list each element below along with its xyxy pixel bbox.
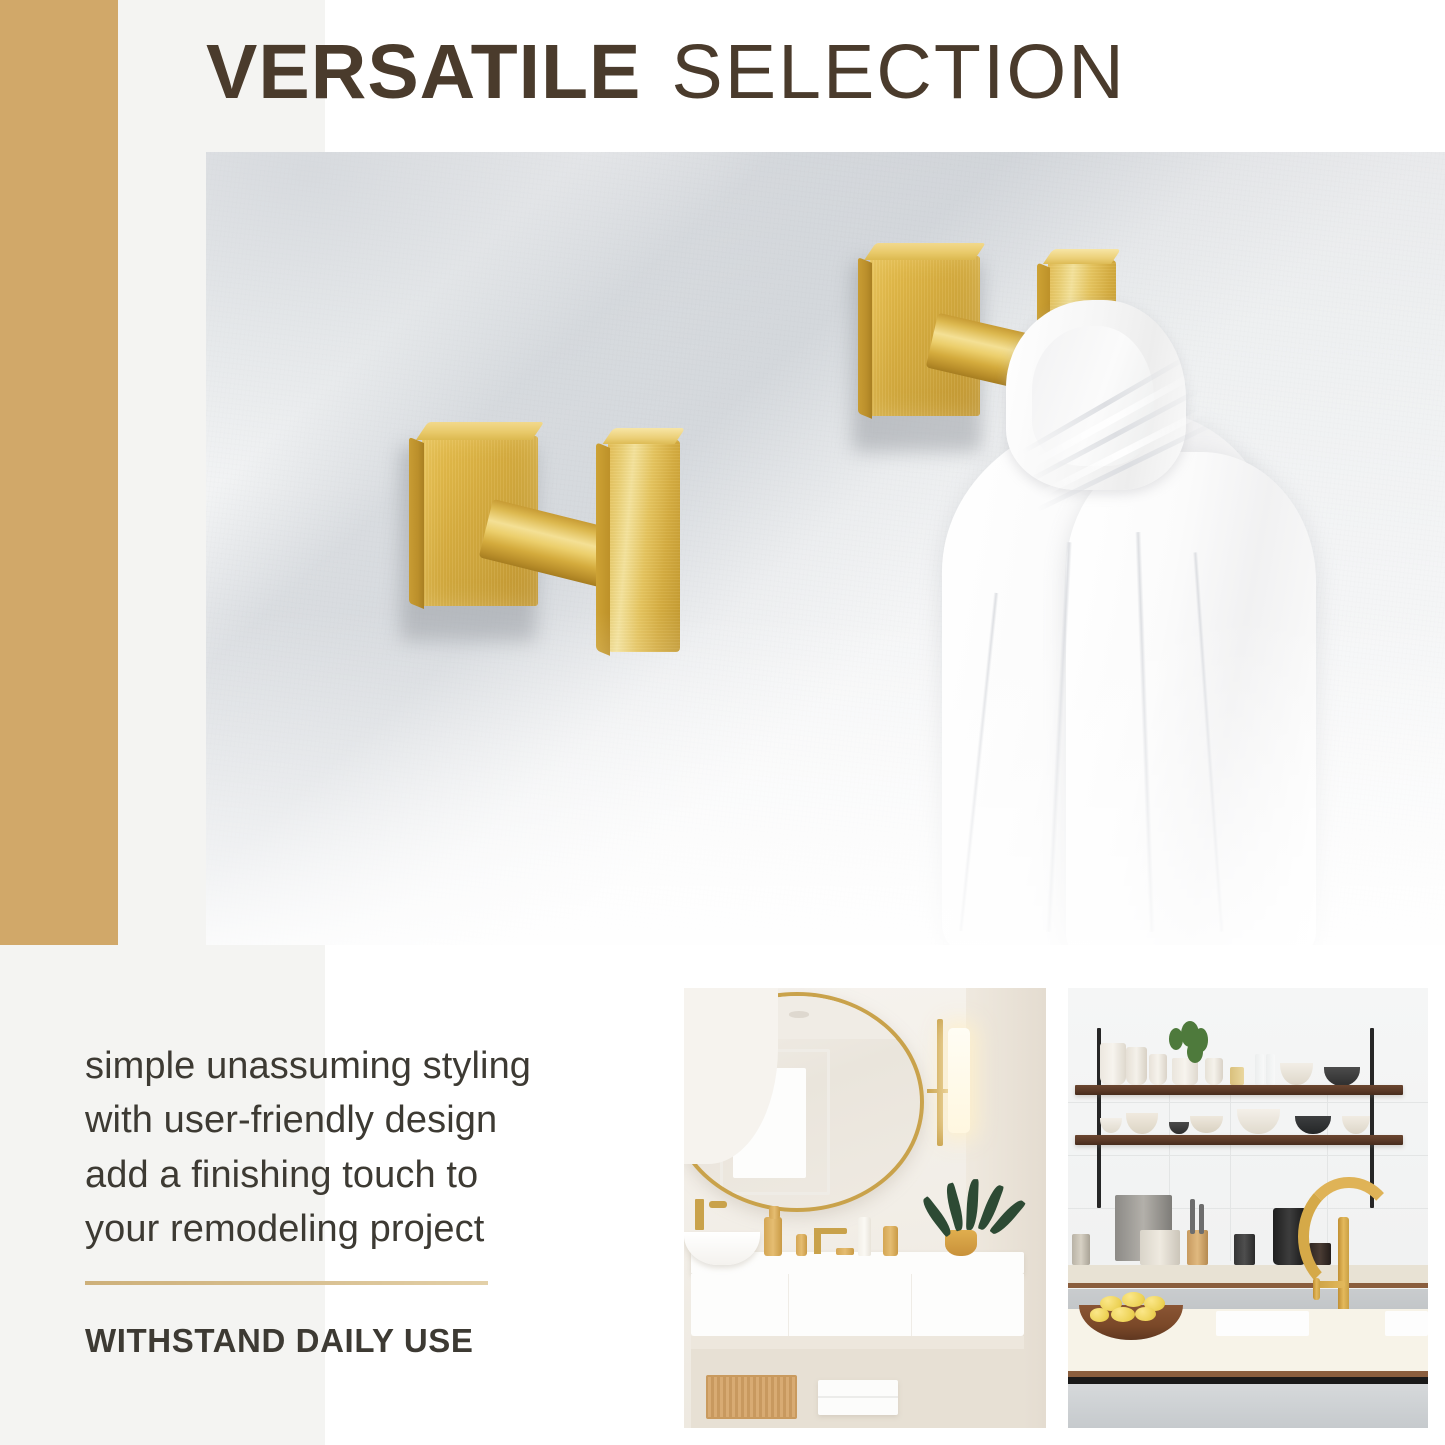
wicker-basket xyxy=(706,1375,797,1419)
undermount-sink xyxy=(1385,1311,1428,1335)
plate-left-bevel xyxy=(858,257,872,419)
body-copy-line-3: add a finishing touch to xyxy=(85,1148,555,1202)
faucet-handle-stem xyxy=(1313,1278,1320,1300)
lemon xyxy=(1111,1307,1134,1322)
dark-canister xyxy=(1234,1234,1256,1265)
glass-jar xyxy=(1230,1067,1244,1085)
utensil-crock xyxy=(1187,1230,1209,1265)
plate-top-bevel xyxy=(416,422,544,440)
gold-accent-bar xyxy=(0,0,118,945)
undermount-sink xyxy=(1216,1311,1310,1335)
tagline: WITHSTAND DAILY USE xyxy=(85,1322,473,1360)
plate-left-bevel xyxy=(409,437,424,609)
utensil xyxy=(1199,1204,1204,1235)
soap-dispenser-pump xyxy=(769,1206,780,1219)
product-marketing-banner: VERSATILESELECTION xyxy=(0,0,1445,1445)
small-gold-jar xyxy=(796,1234,807,1256)
mirror-reflection-light xyxy=(789,1011,809,1017)
vanity-drawer-seam xyxy=(788,1274,789,1336)
page-title-secondary: SELECTION xyxy=(671,29,1125,115)
gold-divider xyxy=(85,1281,488,1285)
page-title: VERSATILESELECTION xyxy=(206,34,1126,111)
wall-sconce-rod xyxy=(937,1019,943,1147)
ceramic-vase xyxy=(1205,1058,1223,1084)
bar-top-bevel xyxy=(1043,249,1121,264)
vanity-drawer-seam xyxy=(911,1274,912,1336)
lemon xyxy=(1135,1307,1157,1322)
gold-tumbler xyxy=(883,1226,897,1257)
glass-tumbler xyxy=(1266,1054,1275,1085)
wall-sconce-light xyxy=(948,1028,970,1134)
bar-top-bevel xyxy=(603,428,686,444)
tile-grout-line xyxy=(1230,1094,1231,1261)
herb-foliage xyxy=(1187,1041,1203,1063)
glass-canister xyxy=(1072,1234,1090,1265)
ceramic-pitcher xyxy=(1126,1047,1148,1084)
kitchen-scene-photo xyxy=(1068,988,1428,1428)
island-wood-edge xyxy=(1068,1371,1428,1377)
vanity-cabinet xyxy=(691,1274,1024,1336)
island-lower-cabinets xyxy=(1068,1384,1428,1428)
glass-tumbler xyxy=(1255,1054,1264,1085)
wall-mounted-faucet xyxy=(695,1199,704,1230)
folded-towels xyxy=(818,1380,898,1415)
lower-shelf xyxy=(1075,1135,1403,1145)
shelf-rail xyxy=(1370,1028,1374,1208)
coffee-machine-base xyxy=(1140,1230,1180,1265)
body-copy-line-4: your remodeling project xyxy=(85,1202,555,1256)
faucet-handle xyxy=(709,1201,727,1208)
upper-shelf xyxy=(1075,1085,1403,1095)
plate-top-bevel xyxy=(864,243,985,260)
vanity-faucet-spout xyxy=(814,1228,847,1235)
lemon xyxy=(1090,1308,1110,1321)
island-dark-edge xyxy=(1068,1377,1428,1384)
wall-bottom-glow xyxy=(206,612,1445,945)
body-copy-line-1: simple unassuming styling xyxy=(85,1039,555,1093)
ceramic-vase xyxy=(1149,1054,1167,1085)
hero-product-photo xyxy=(206,152,1445,945)
lotion-bottle xyxy=(858,1217,871,1257)
page-title-primary: VERSATILE xyxy=(206,29,641,115)
utensil xyxy=(1190,1199,1195,1234)
body-copy-line-2: with user-friendly design xyxy=(85,1093,555,1147)
gold-dish xyxy=(836,1248,854,1255)
vanity-under-shelf xyxy=(691,1336,1024,1349)
ceramic-pitcher xyxy=(1100,1043,1125,1085)
soap-dispenser xyxy=(764,1217,782,1257)
bathroom-scene-photo xyxy=(684,988,1046,1428)
body-copy: simple unassuming styling with user-frie… xyxy=(85,1039,555,1256)
